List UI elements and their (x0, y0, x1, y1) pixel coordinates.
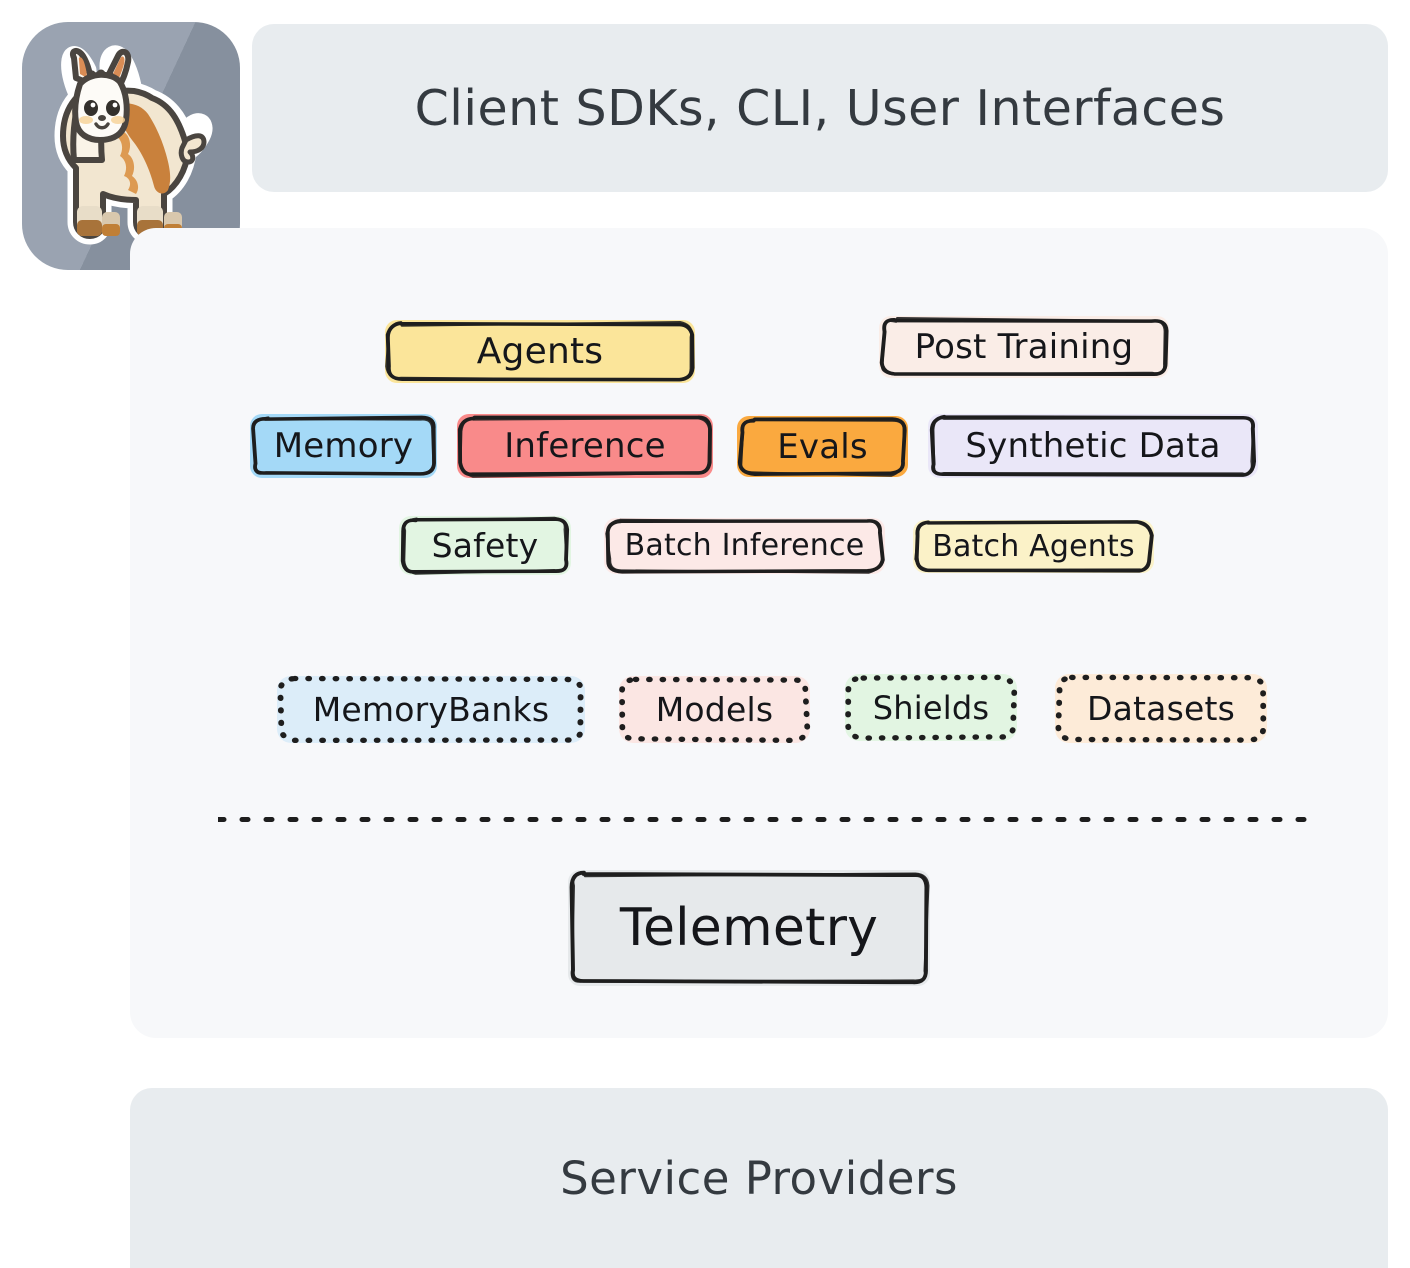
resource-node-datasets[interactable]: Datasets (1055, 674, 1267, 743)
api-node-post-training-label: Post Training (915, 330, 1134, 364)
api-node-batch-agents-label: Batch Agents (932, 532, 1135, 562)
api-node-evals-label: Evals (777, 430, 868, 464)
resource-node-memorybanks[interactable]: MemoryBanks (277, 676, 585, 743)
client-layer-label: Client SDKs, CLI, User Interfaces (415, 80, 1226, 137)
api-node-safety[interactable]: Safety (399, 516, 571, 575)
resource-node-models-label: Models (656, 693, 773, 726)
telemetry-node-label: Telemetry (620, 902, 878, 954)
api-node-synthetic-data-label: Synthetic Data (965, 429, 1220, 463)
resource-node-memorybanks-label: MemoryBanks (313, 693, 550, 726)
api-node-memory[interactable]: Memory (250, 414, 437, 478)
client-layer-band: Client SDKs, CLI, User Interfaces (252, 24, 1388, 192)
api-node-batch-inference-label: Batch Inference (625, 531, 865, 561)
api-node-evals[interactable]: Evals (737, 416, 908, 477)
api-divider (218, 817, 1312, 822)
api-node-synthetic-data[interactable]: Synthetic Data (928, 414, 1258, 478)
api-node-safety-label: Safety (432, 529, 539, 562)
llama-logo-icon (36, 44, 226, 254)
resource-node-datasets-label: Datasets (1087, 692, 1235, 725)
resource-node-models[interactable]: Models (619, 676, 810, 743)
api-node-batch-agents[interactable]: Batch Agents (913, 520, 1154, 573)
telemetry-node[interactable]: Telemetry (568, 870, 930, 986)
service-providers-band: Service Providers (130, 1088, 1388, 1268)
api-node-agents-label: Agents (477, 334, 604, 370)
api-node-post-training[interactable]: Post Training (879, 316, 1169, 378)
resource-node-shields[interactable]: Shields (845, 674, 1017, 741)
api-node-batch-inference[interactable]: Batch Inference (604, 518, 885, 574)
api-node-memory-label: Memory (274, 429, 413, 463)
api-node-inference-label: Inference (504, 429, 666, 463)
service-providers-label: Service Providers (560, 1152, 958, 1205)
api-node-agents[interactable]: Agents (385, 320, 695, 383)
architecture-diagram: Client SDKs, CLI, User Interfaces (0, 0, 1410, 1268)
resource-node-shields-label: Shields (873, 692, 989, 724)
api-node-inference[interactable]: Inference (457, 414, 713, 478)
